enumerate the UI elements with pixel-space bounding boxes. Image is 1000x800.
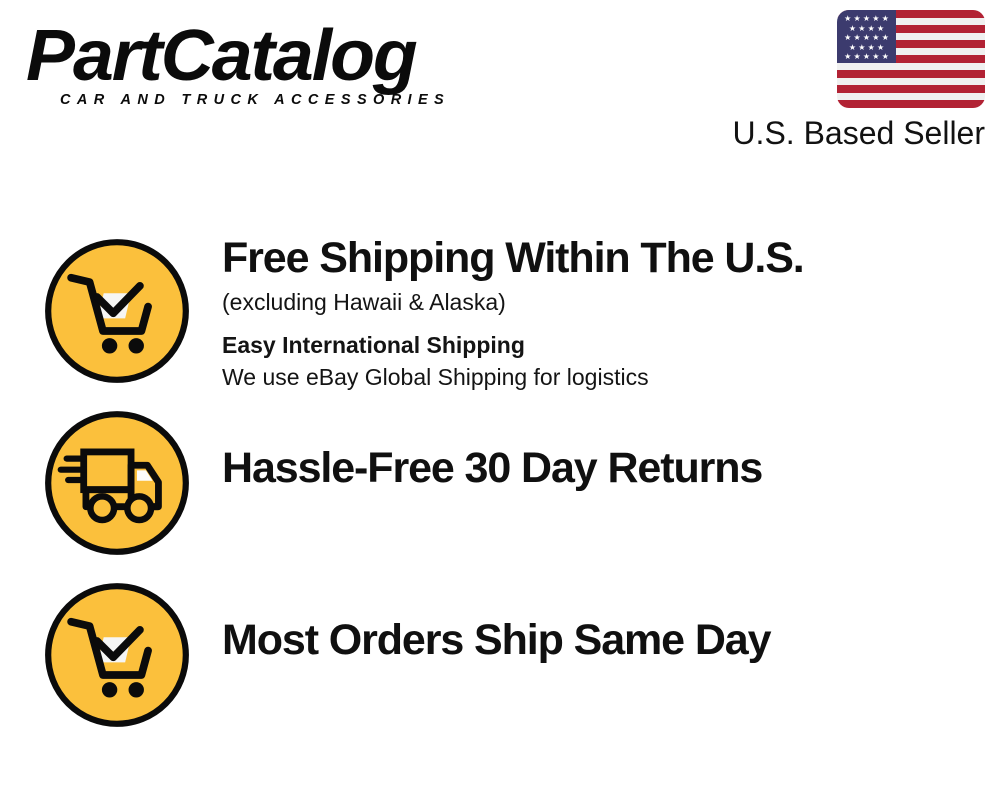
brand-wordmark: PartCatalog	[26, 22, 505, 90]
feature-subtitle-bold: Easy International Shipping	[222, 330, 982, 361]
feature-title: Free Shipping Within The U.S.	[222, 237, 982, 280]
feature-text-block: Hassle-Free 30 Day Returns	[222, 447, 982, 490]
us-flag-icon: ★ ★ ★ ★ ★ ★ ★ ★ ★ ★ ★ ★ ★ ★ ★ ★ ★ ★ ★ ★ …	[837, 10, 985, 108]
feature-row: Hassle-Free 30 Day Returns	[0, 409, 1000, 581]
feature-title: Hassle-Free 30 Day Returns	[222, 447, 982, 490]
flag-star-row: ★ ★ ★ ★ ★	[837, 15, 896, 23]
feature-subtitle: (excluding Hawaii & Alaska)	[222, 287, 982, 318]
seller-label: U.S. Based Seller	[715, 116, 985, 151]
feature-title: Most Orders Ship Same Day	[222, 619, 982, 662]
brand-logo: PartCatalog CAR AND TRUCK ACCESSORIES	[26, 22, 496, 108]
feature-text-block: Free Shipping Within The U.S. (excluding…	[222, 237, 982, 393]
feature-row: Most Orders Ship Same Day	[0, 581, 1000, 753]
feature-text-block: Most Orders Ship Same Day	[222, 619, 982, 662]
us-based-seller-badge: ★ ★ ★ ★ ★ ★ ★ ★ ★ ★ ★ ★ ★ ★ ★ ★ ★ ★ ★ ★ …	[715, 10, 985, 151]
delivery-truck-icon	[43, 409, 191, 557]
flag-star-row: ★ ★ ★ ★	[837, 25, 896, 33]
flag-star-row: ★ ★ ★ ★ ★	[837, 34, 896, 42]
shopping-cart-check-icon	[43, 581, 191, 729]
flag-star-row: ★ ★ ★ ★ ★	[837, 53, 896, 61]
feature-subtitle: We use eBay Global Shipping for logistic…	[222, 362, 982, 393]
feature-list: Free Shipping Within The U.S. (excluding…	[0, 237, 1000, 753]
shopping-cart-check-icon	[43, 237, 191, 385]
feature-row: Free Shipping Within The U.S. (excluding…	[0, 237, 1000, 409]
flag-star-row: ★ ★ ★ ★	[837, 44, 896, 52]
